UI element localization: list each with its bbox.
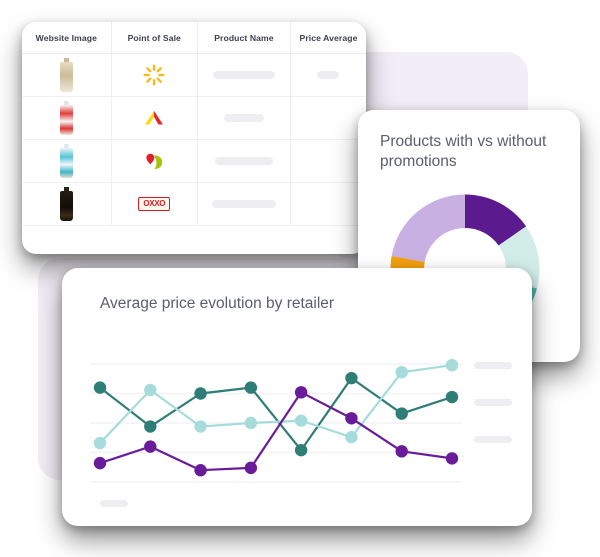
composition-stage: Website Image Point of Sale Product Name… <box>0 0 600 557</box>
column-header-product-name[interactable]: Product Name <box>197 22 290 54</box>
data-point-s2-1[interactable] <box>94 437 106 449</box>
data-point-s3-2[interactable] <box>144 440 156 452</box>
walmart-spark-icon <box>140 62 168 88</box>
data-point-s2-5[interactable] <box>295 414 307 426</box>
price-evolution-card: Average price evolution by retailer <box>62 268 532 526</box>
data-point-s3-7[interactable] <box>396 445 408 457</box>
donut-chart-title: Products with vs without promotions <box>380 132 560 172</box>
column-header-point-of-sale[interactable]: Point of Sale <box>111 22 197 54</box>
cell-website-image <box>22 54 111 97</box>
cell-price-average <box>290 140 366 183</box>
legend-placeholders <box>474 362 524 473</box>
cell-point-of-sale <box>111 97 197 140</box>
x-axis-label-placeholder <box>100 500 128 507</box>
line-chart <box>90 358 462 488</box>
cell-point-of-sale <box>111 54 197 97</box>
data-point-s1-3[interactable] <box>194 387 206 399</box>
oxxo-logo-text: OXXO <box>143 200 165 208</box>
data-point-s3-4[interactable] <box>245 462 257 474</box>
data-point-s1-5[interactable] <box>295 444 307 456</box>
cell-price-average <box>290 97 366 140</box>
column-header-price-average[interactable]: Price Average <box>290 22 366 54</box>
cell-price-average <box>290 54 366 97</box>
line-chart-svg <box>90 358 462 488</box>
table-row[interactable]: OXXO <box>22 183 366 226</box>
table-row[interactable] <box>22 140 366 183</box>
cell-website-image <box>22 97 111 140</box>
legend-placeholder <box>474 399 512 406</box>
cell-product-name <box>197 97 290 140</box>
table-header-row: Website Image Point of Sale Product Name… <box>22 22 366 54</box>
table-body: OXXO <box>22 54 366 226</box>
table-row[interactable] <box>22 97 366 140</box>
cell-point-of-sale: OXXO <box>111 183 197 226</box>
column-header-website-image[interactable]: Website Image <box>22 22 111 54</box>
data-point-s2-4[interactable] <box>245 417 257 429</box>
legend-placeholder <box>474 436 512 443</box>
product-name-placeholder <box>215 157 273 165</box>
line-chart-title: Average price evolution by retailer <box>100 294 380 314</box>
data-point-s2-8[interactable] <box>446 359 458 371</box>
data-point-s3-8[interactable] <box>446 452 458 464</box>
blue-white-bottle-thumbnail-icon <box>60 144 73 178</box>
data-point-s1-4[interactable] <box>245 381 257 393</box>
product-name-placeholder <box>213 71 275 79</box>
data-point-s2-6[interactable] <box>345 431 357 443</box>
chedraui-chevron-icon <box>140 105 168 131</box>
cell-website-image <box>22 140 111 183</box>
cell-point-of-sale <box>111 140 197 183</box>
beige-bottle-thumbnail-icon <box>60 58 73 92</box>
data-point-s2-7[interactable] <box>396 366 408 378</box>
red-white-bottle-thumbnail-icon <box>60 101 73 135</box>
product-table-card: Website Image Point of Sale Product Name… <box>22 22 366 254</box>
donut-segment-6[interactable] <box>392 194 465 261</box>
oxxo-logo-icon: OXXO <box>138 197 170 211</box>
la-comer-leaf-icon <box>140 148 168 174</box>
data-point-s1-8[interactable] <box>446 391 458 403</box>
data-point-s1-2[interactable] <box>144 420 156 432</box>
product-name-placeholder <box>212 200 276 208</box>
data-point-s3-3[interactable] <box>194 464 206 476</box>
data-point-s1-1[interactable] <box>94 381 106 393</box>
data-point-s3-1[interactable] <box>94 457 106 469</box>
product-comparison-table: Website Image Point of Sale Product Name… <box>22 22 366 226</box>
data-point-s2-3[interactable] <box>194 420 206 432</box>
data-point-s1-6[interactable] <box>345 372 357 384</box>
dark-brown-bottle-thumbnail-icon <box>60 187 73 221</box>
table-row[interactable] <box>22 54 366 97</box>
data-point-s1-7[interactable] <box>396 407 408 419</box>
cell-website-image <box>22 183 111 226</box>
cell-product-name <box>197 183 290 226</box>
data-point-s2-2[interactable] <box>144 384 156 396</box>
legend-placeholder <box>474 362 512 369</box>
data-point-s3-5[interactable] <box>295 386 307 398</box>
cell-product-name <box>197 54 290 97</box>
table-header: Website Image Point of Sale Product Name… <box>22 22 366 54</box>
data-point-s3-6[interactable] <box>345 412 357 424</box>
price-placeholder <box>317 71 339 79</box>
cell-price-average <box>290 183 366 226</box>
cell-product-name <box>197 140 290 183</box>
product-name-placeholder <box>224 114 264 122</box>
